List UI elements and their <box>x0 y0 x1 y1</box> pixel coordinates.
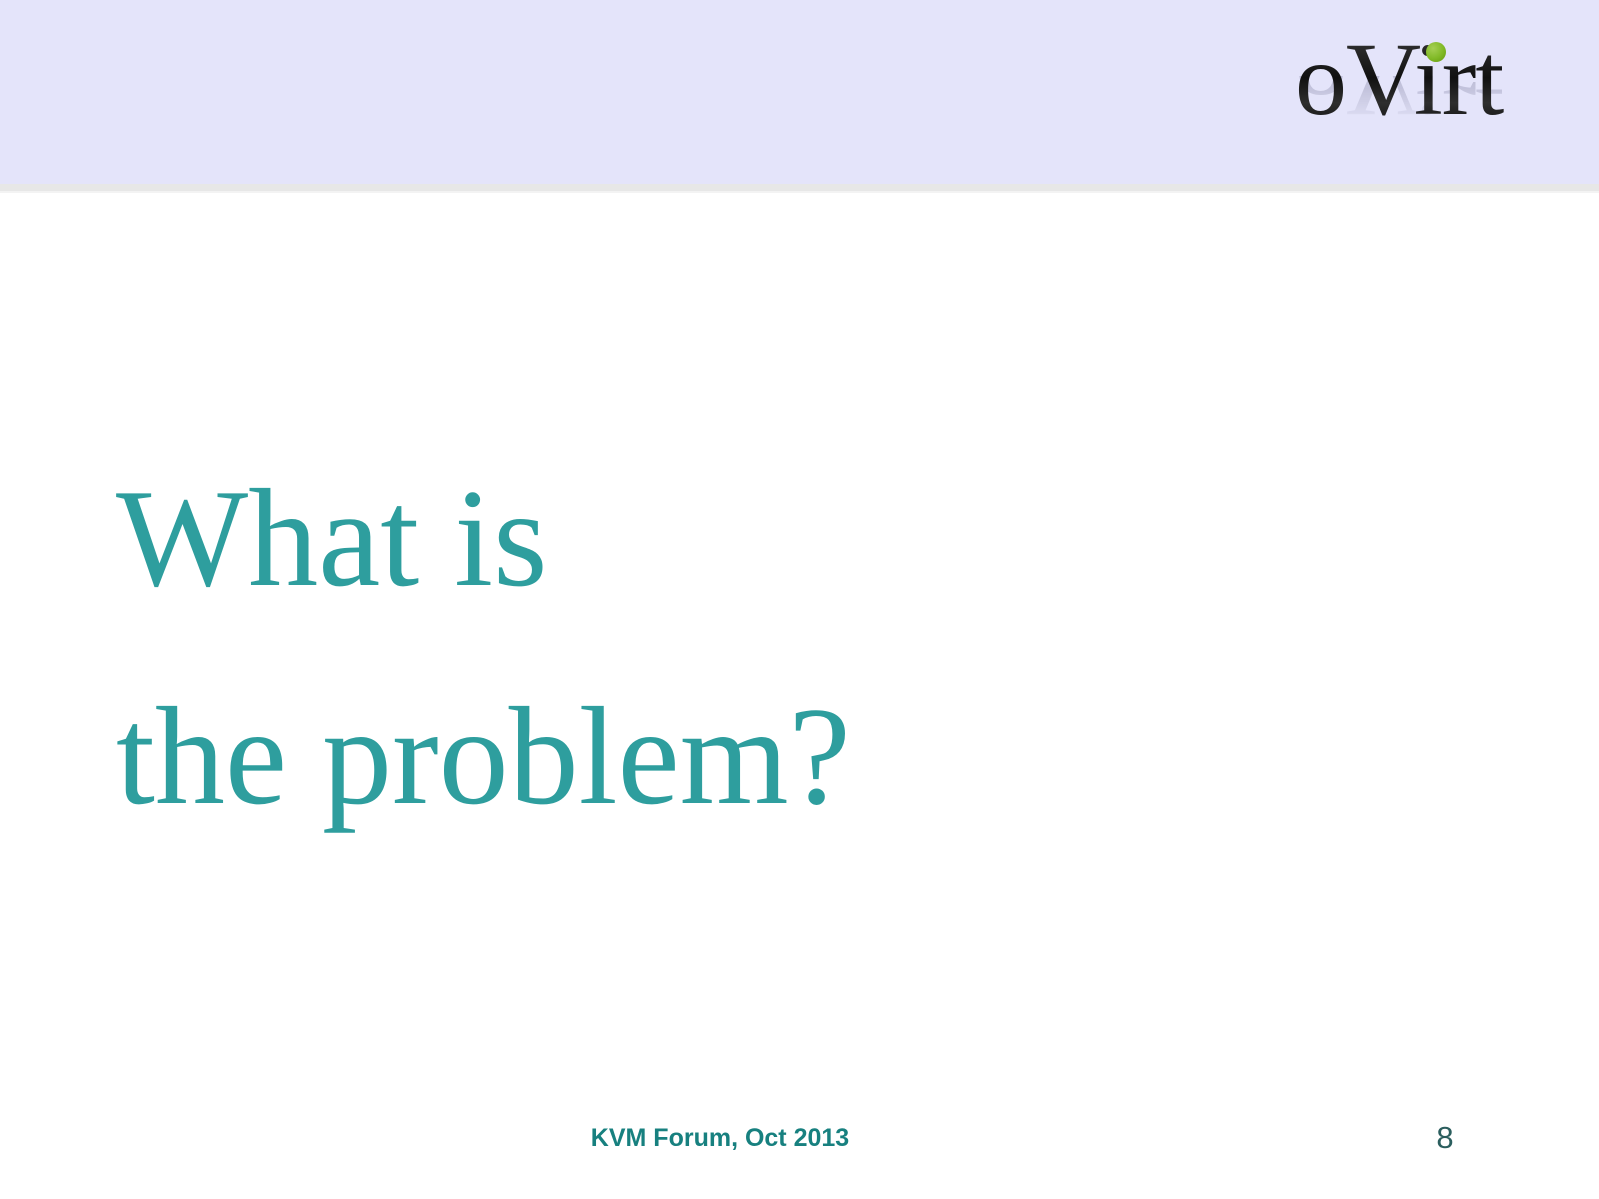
slide: oVirt oVirt What is the problem? KVM For… <box>0 0 1599 1199</box>
ovirt-logo-green-dot-icon <box>1426 42 1446 62</box>
page-title-line-1: What is <box>116 430 1216 648</box>
slide-page-number: 8 <box>1410 1120 1480 1156</box>
page-title-line-2: the problem? <box>116 648 1216 866</box>
ovirt-logo: oVirt oVirt <box>1295 28 1535 188</box>
header-divider-secondary <box>0 191 1599 193</box>
ovirt-logo-wordmark: oVirt <box>1295 28 1535 132</box>
page-title: What is the problem? <box>116 430 1216 866</box>
footer-event-label: KVM Forum, Oct 2013 <box>0 1124 1440 1153</box>
